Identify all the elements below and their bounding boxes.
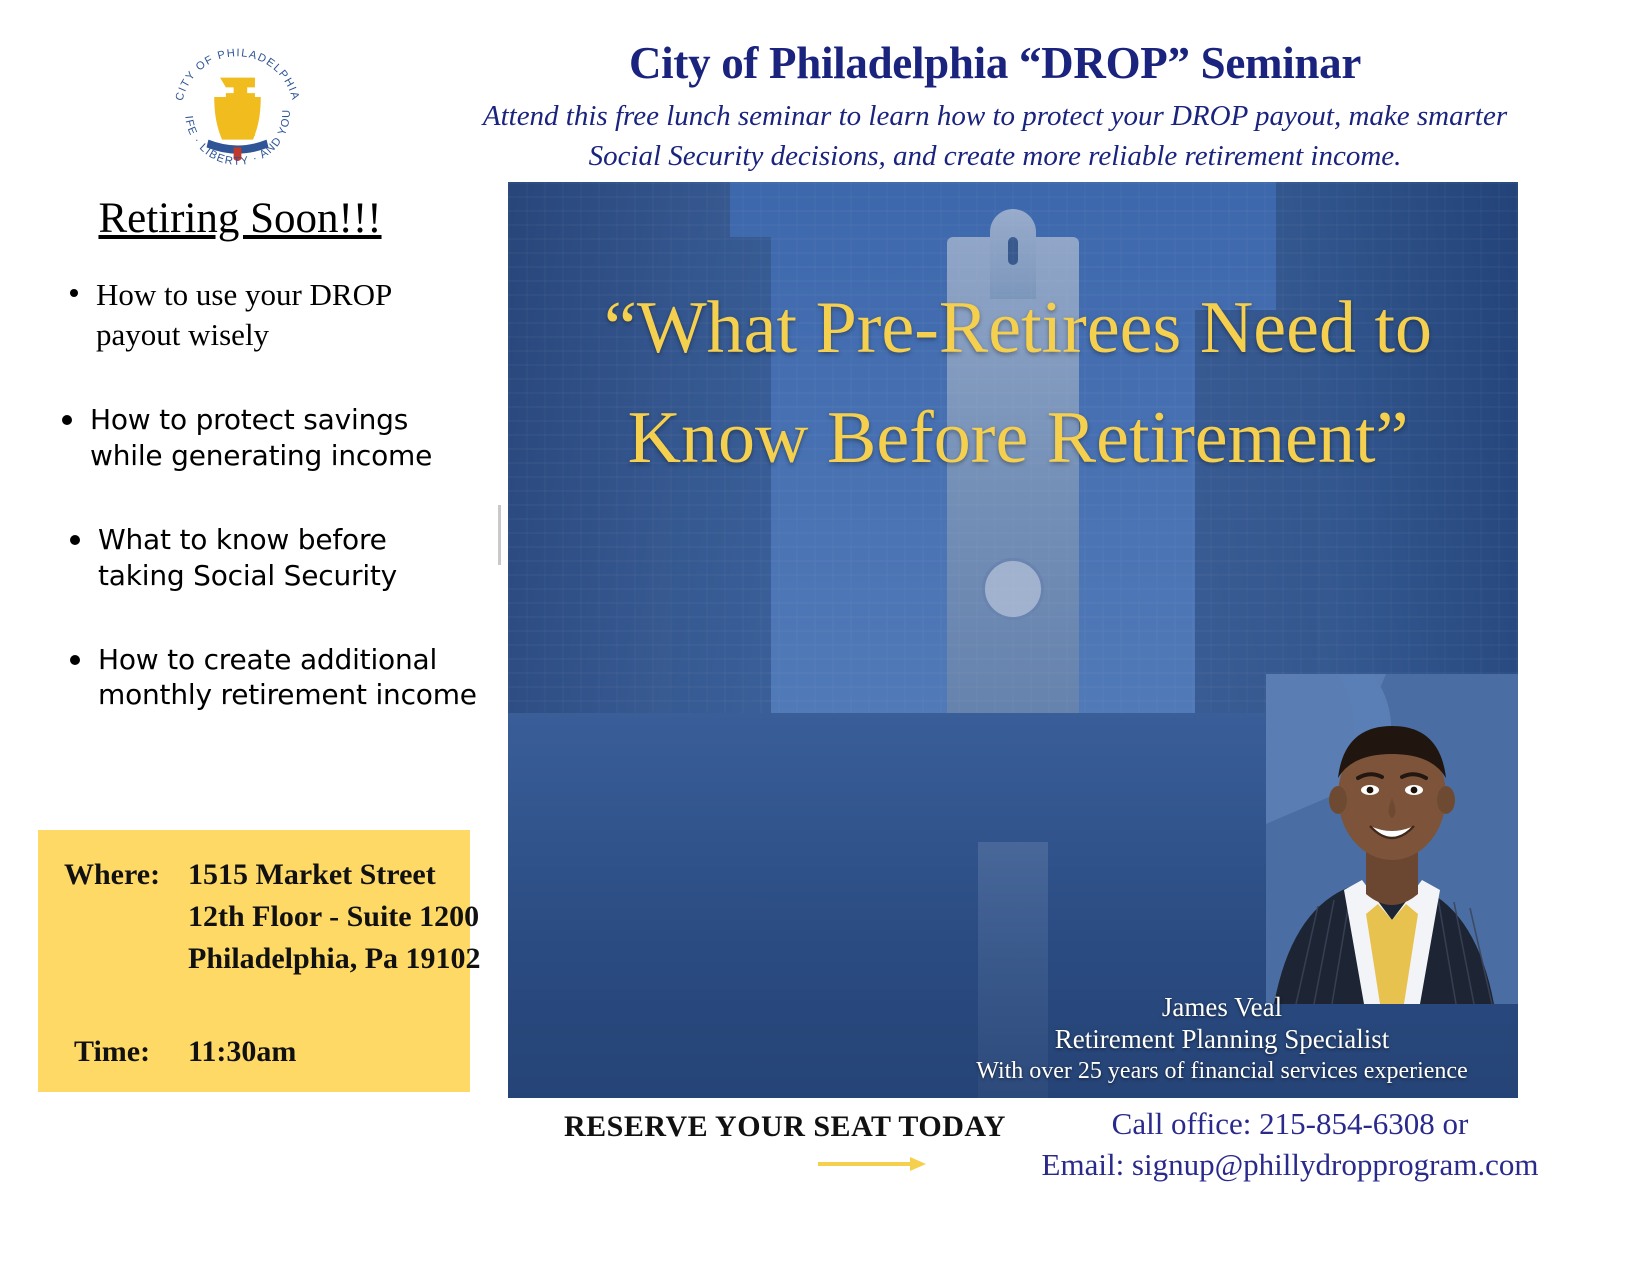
speaker-experience: With over 25 years of financial services… [942,1056,1502,1086]
bullet-icon [70,535,80,545]
city-of-philadelphia-logo-icon: CITY OF PHILADELPHIA LIFE · LIBERTY · AN… [160,35,315,190]
time-label: Time: [74,1035,150,1069]
speaker-title: Retirement Planning Specialist [942,1023,1502,1056]
page-subtitle: Attend this free lunch seminar to learn … [460,96,1530,176]
arrow-right-icon [818,1155,926,1173]
list-item-label: What to know before taking Social Securi… [98,523,397,592]
contact-email[interactable]: Email: signup@phillydropprogram.com [1010,1145,1570,1186]
event-details-box: Where: 1515 Market Street 12th Floor - S… [38,830,470,1092]
hero-image-philadelphia-city-hall: “What Pre-Retirees Need to Know Before R… [508,182,1518,1098]
list-item: How to protect savings while generating … [40,402,480,474]
address-line-2: 12th Floor - Suite 1200 [188,900,479,934]
speaker-credentials: James Veal Retirement Planning Specialis… [942,991,1502,1086]
list-item-label: How to create additional monthly retirem… [98,643,477,712]
bullet-icon [70,655,80,665]
retiring-soon-heading: Retiring Soon!!! [0,196,480,242]
contact-phone[interactable]: Call office: 215-854-6308 or [1010,1104,1570,1145]
speaker-name: James Veal [942,991,1502,1023]
list-item-label: How to use your DROP payout wisely [96,277,391,352]
vertical-divider [498,505,501,565]
speaker-portrait-photo [1266,674,1518,1004]
benefit-list: How to use your DROP payout wisely How t… [40,275,480,761]
contact-block: Call office: 215-854-6308 or Email: sign… [1010,1104,1570,1186]
address-line-1: 1515 Market Street [188,858,436,892]
address-line-3: Philadelphia, Pa 19102 [188,942,481,976]
bullet-icon [70,289,78,297]
left-column: CITY OF PHILADELPHIA LIFE · LIBERTY · AN… [0,0,500,1275]
time-value: 11:30am [188,1035,296,1069]
seminar-header: City of Philadelphia “DROP” Seminar Atte… [460,38,1530,176]
page-title: City of Philadelphia “DROP” Seminar [460,38,1530,88]
bullet-icon [62,415,72,425]
reserve-seat-cta: RESERVE YOUR SEAT TODAY [560,1110,1010,1144]
list-item-label: How to protect savings while generating … [90,403,432,472]
list-item: What to know before taking Social Securi… [40,522,480,594]
list-item: How to create additional monthly retirem… [40,642,480,714]
where-label: Where: [64,858,160,892]
hero-headline: “What Pre-Retirees Need to Know Before R… [538,274,1498,493]
list-item: How to use your DROP payout wisely [40,275,480,354]
